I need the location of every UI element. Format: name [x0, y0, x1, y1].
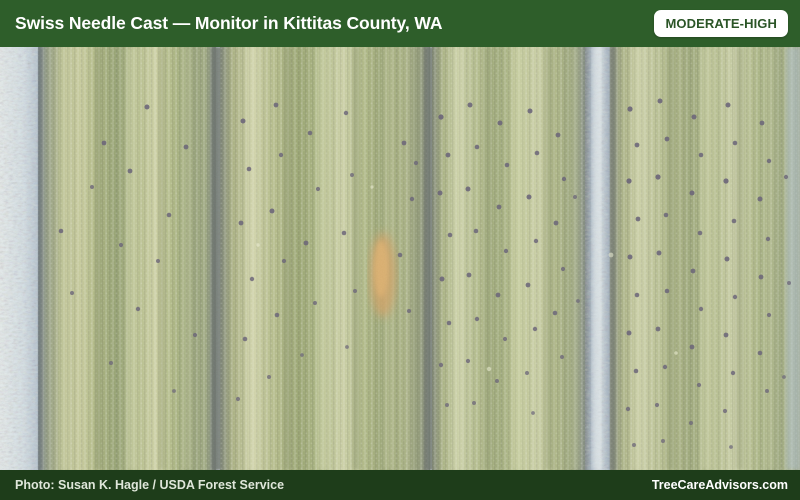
microscope-image — [0, 47, 800, 470]
footer-bar: Photo: Susan K. Hagle / USDA Forest Serv… — [0, 470, 800, 500]
header-bar: Swiss Needle Cast — Monitor in Kittitas … — [0, 0, 800, 47]
severity-badge: MODERATE-HIGH — [654, 10, 788, 37]
site-url[interactable]: TreeCareAdvisors.com — [652, 478, 788, 492]
severity-badge-label: MODERATE-HIGH — [665, 16, 777, 31]
needle-photograph — [0, 47, 800, 470]
photo-credit: Photo: Susan K. Hagle / USDA Forest Serv… — [15, 478, 284, 492]
infographic-card: Swiss Needle Cast — Monitor in Kittitas … — [0, 0, 800, 500]
page-title: Swiss Needle Cast — Monitor in Kittitas … — [15, 15, 442, 33]
